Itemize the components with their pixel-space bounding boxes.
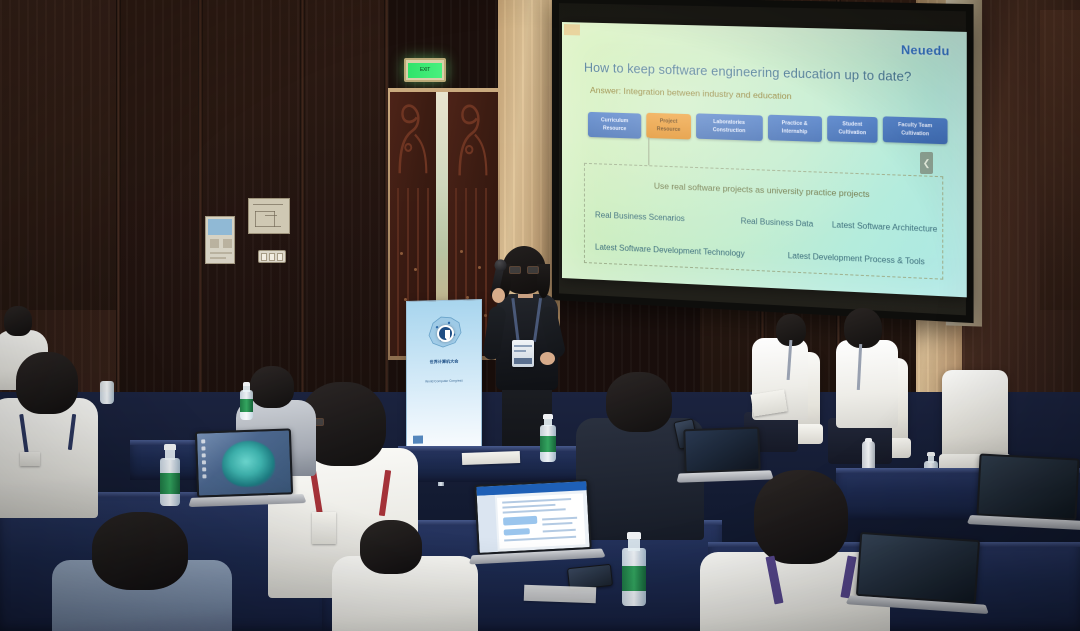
bullet-latest-development-process-tools: Latest Development Process & Tools — [788, 251, 932, 267]
laptop-center[interactable] — [474, 479, 592, 555]
handout-paper — [462, 451, 520, 465]
evacuation-map-sign — [248, 198, 290, 234]
bullet-real-business-data: Real Business Data — [741, 216, 832, 229]
slide-logo: Neuedu — [901, 43, 950, 59]
chevron-left-icon[interactable]: ❮ — [920, 152, 933, 174]
door-scrollwork-icon — [394, 98, 432, 184]
room-notice-sign — [205, 216, 235, 264]
wall-trim — [198, 0, 203, 400]
pipeline-box-project-resource: Project Resource — [646, 113, 690, 140]
detail-bullets-row-1: Real Business Scenarios Real Business Da… — [595, 210, 932, 233]
exit-sign: EXIT — [404, 58, 446, 82]
conference-rollup-banner: 世界计算机大会 World Computer Congress — [406, 299, 482, 461]
slide-answer-line: Answer: Integration between industry and… — [590, 85, 792, 101]
handout-paper — [524, 585, 597, 604]
door-scrollwork-icon — [452, 98, 494, 184]
wall-trim — [300, 0, 305, 400]
light-switch-panel[interactable] — [258, 250, 286, 263]
detail-panel-title: Use real software projects as university… — [585, 178, 942, 202]
exit-sign-label: EXIT — [408, 63, 442, 78]
attendee-badge — [312, 512, 336, 544]
laptop-bottom-right[interactable] — [856, 532, 980, 604]
water-bottle — [160, 444, 180, 506]
left-wall-upper — [0, 0, 120, 310]
laptop-left[interactable] — [195, 428, 293, 497]
presenter — [478, 248, 588, 463]
bullet-latest-software-architecture: Latest Software Architecture — [832, 220, 938, 234]
pipeline-connector-line — [648, 137, 649, 165]
bullet-latest-software-development-technology: Latest Software Development Technology — [595, 242, 788, 260]
banner-sponsor-mark — [413, 436, 423, 444]
attendee-badge — [20, 452, 40, 466]
projected-slide: Neuedu How to keep software engineering … — [562, 22, 967, 297]
pipeline-box-practice-internship: Practice & Internship — [768, 115, 822, 143]
drinking-glass — [100, 374, 114, 404]
document-editor-screen — [476, 481, 589, 553]
glasses-icon — [509, 266, 539, 274]
slide-pipeline-boxes: Curriculum Resource Project Resource Lab… — [588, 107, 948, 150]
laptop-right[interactable] — [976, 453, 1079, 520]
bullet-real-business-scenarios: Real Business Scenarios — [595, 210, 741, 225]
right-wall-decor — [1040, 10, 1080, 310]
empty-chair — [942, 370, 1008, 460]
slide-title: How to keep software engineering educati… — [584, 61, 924, 85]
pipeline-box-curriculum-resource: Curriculum Resource — [588, 112, 641, 139]
pipeline-box-laboratories-construction: Laboratories Construction — [696, 113, 762, 141]
pipeline-box-student-cultivation: Student Cultivation — [827, 116, 878, 144]
detail-bullets-row-2: Latest Software Development Technology L… — [595, 242, 932, 266]
water-bottle — [240, 382, 253, 420]
laptop-right-mid[interactable] — [683, 427, 760, 474]
water-bottle — [622, 532, 646, 606]
slide-corner-marker — [564, 24, 580, 35]
presenter-right-hand — [540, 352, 555, 365]
windows11-wallpaper — [197, 430, 291, 495]
slide-detail-panel: Use real software projects as university… — [584, 163, 943, 280]
presenter-left-hand — [492, 288, 505, 303]
presenter-badge — [512, 340, 534, 367]
pipeline-box-faculty-team-cultivation: Faculty Team Cultivation — [883, 116, 948, 144]
water-bottle — [540, 414, 556, 462]
conference-photo-scene: EXIT — [0, 0, 1080, 631]
wall-trim — [116, 0, 121, 400]
